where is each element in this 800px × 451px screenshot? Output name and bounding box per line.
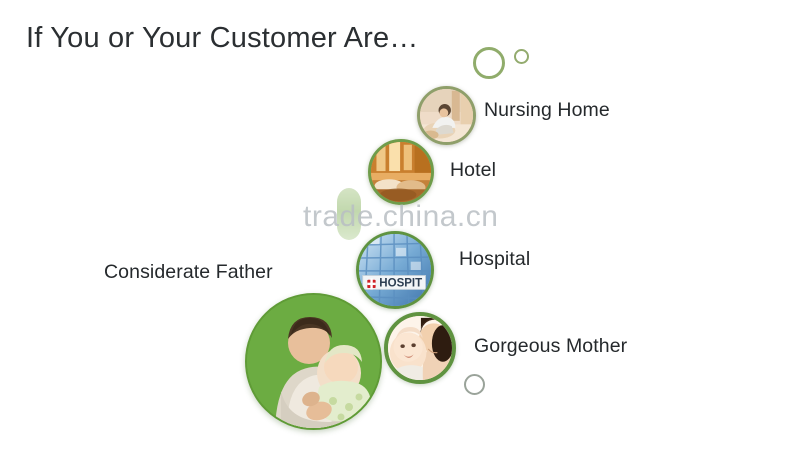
- decorative-ring-small-icon: [514, 49, 529, 64]
- nursing-home-photo: [417, 86, 476, 145]
- watermark-text: trade.china.cn: [303, 200, 498, 234]
- hotel-room-photo: [368, 139, 434, 205]
- hospital-building-photo: HOSPIT: [356, 231, 434, 309]
- slide-canvas: If You or Your Customer Are… Nursing Hom…: [0, 0, 800, 451]
- label-hotel: Hotel: [450, 159, 496, 182]
- decorative-ring-bottom-icon: [464, 374, 485, 395]
- page-title: If You or Your Customer Are…: [26, 22, 419, 55]
- label-considerate-father: Considerate Father: [104, 261, 273, 284]
- label-gorgeous-mother: Gorgeous Mother: [474, 335, 627, 358]
- hospital-building-illustration: HOSPIT: [359, 234, 431, 306]
- mother-and-baby-photo: [384, 312, 456, 384]
- nursing-home-illustration: [420, 89, 473, 142]
- father-and-baby-illustration: [247, 295, 380, 428]
- svg-text:HOSPIT: HOSPIT: [379, 278, 422, 290]
- hotel-room-illustration: [371, 142, 431, 202]
- label-nursing-home: Nursing Home: [484, 99, 610, 122]
- decorative-green-pill-icon: [337, 188, 361, 240]
- label-hospital: Hospital: [459, 248, 530, 271]
- mother-and-baby-illustration: [388, 316, 452, 380]
- decorative-ring-large-icon: [473, 47, 505, 79]
- father-and-baby-photo: [245, 293, 382, 430]
